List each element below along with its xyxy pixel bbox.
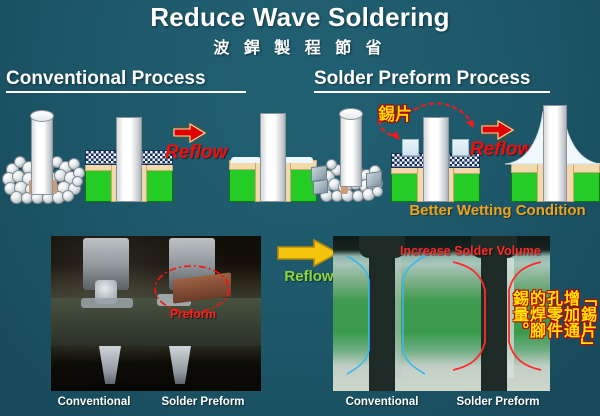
slide-canvas: Reduce Wave Soldering 波 銲 製 程 節 省 Conven… (0, 0, 600, 416)
photo-conventional-vs-preform (51, 236, 261, 391)
page-subtitle: 波 銲 製 程 節 省 (0, 34, 600, 58)
increase-solder-volume-callout: Increase Solder Volume (400, 244, 541, 258)
solder-checker-band-left (85, 150, 119, 165)
note-column-5: 錫量。 (510, 290, 526, 394)
through-hole-lead-result (260, 113, 286, 202)
better-wetting-caption: Better Wetting Condition (400, 202, 595, 219)
note-column-1: 「錫片」 (578, 290, 594, 394)
page-title: Reduce Wave Soldering (0, 2, 600, 33)
component-lead-top (30, 110, 54, 122)
note-column-4: 的焊腳 (527, 290, 543, 394)
preform-callout: Preform (170, 307, 216, 321)
section-heading-conventional: Conventional Process (6, 68, 246, 93)
component-lead-right (340, 113, 362, 187)
note-column-2: 增加通 (561, 290, 577, 394)
solder-preform-note-vertical: 「錫片」 增加通 孔零件 的焊腳 錫量。 (520, 290, 594, 394)
solder-fillet-right (283, 157, 313, 163)
reflow-label-left: Reflow (165, 142, 227, 164)
component-lead-right-top (339, 108, 363, 120)
through-hole-lead (116, 117, 142, 202)
photo-left-caption-conventional: Conventional (51, 396, 137, 408)
through-hole-lead-result2 (543, 105, 567, 202)
photo-left-caption-preform: Solder Preform (155, 396, 251, 408)
photo-right-caption-preform: Solder Preform (448, 396, 548, 408)
solder-fillet-left (231, 157, 261, 163)
pcb-pad-result2-right-wall (566, 163, 574, 202)
photo-right-caption-conventional: Conventional (336, 396, 428, 408)
blue-fillet-outline (341, 250, 431, 382)
section-heading-solder-preform: Solder Preform Process (314, 68, 550, 93)
component-lead (31, 115, 53, 195)
red-right-arrow-icon (172, 122, 208, 144)
yellow-right-arrow-icon (276, 238, 340, 268)
note-column-3: 孔零件 (544, 290, 560, 394)
